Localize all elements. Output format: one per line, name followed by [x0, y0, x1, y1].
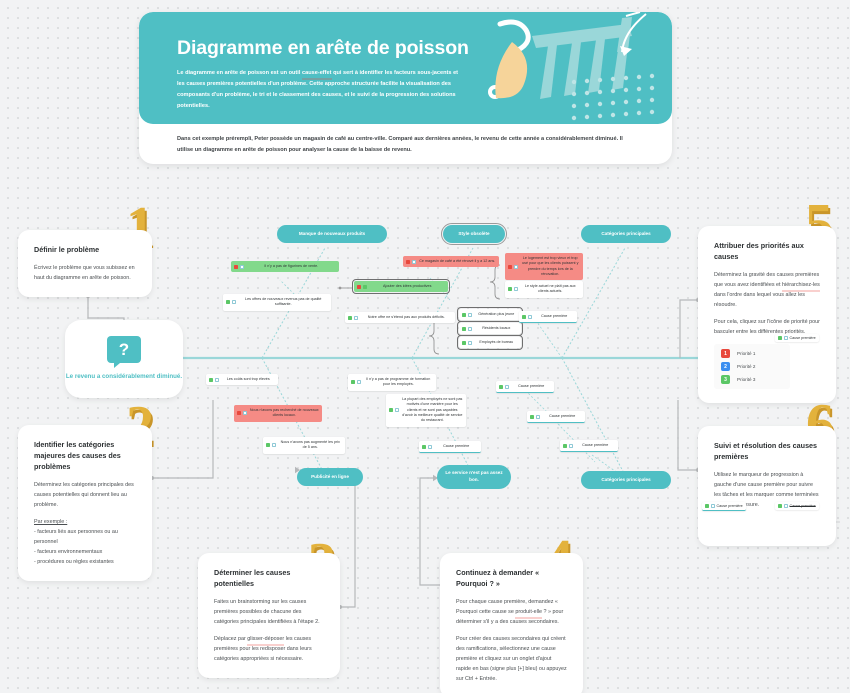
header-description-part1: Le diagramme en arête de poisson est un …	[177, 70, 302, 76]
cause-label-c11: Cause première	[534, 314, 575, 319]
category-node-categories-principales-bottom[interactable]: Catégories principales	[581, 471, 671, 489]
step-4-title: Continuez à demander « Pourquoi ? »	[456, 567, 567, 589]
cause-label-c2: Ajouter des idées productives	[369, 284, 446, 289]
cause-label-c13: Nous n'avons pas recherché de nouveaux c…	[249, 408, 320, 419]
priority-icon-c14[interactable]	[266, 443, 276, 447]
cause-node-c13[interactable]: Nous n'avons pas recherché de nouveaux c…	[234, 405, 322, 422]
step-2-title: Identifier les catégories majeures des c…	[34, 439, 136, 472]
priority-icon-c9[interactable]	[462, 327, 472, 331]
cause-label-c15: Il n'y a pas de programme de formation p…	[363, 377, 434, 388]
category-label-3: Catégories principales	[601, 231, 650, 238]
cause-node-c10[interactable]: Employés de bureau	[459, 337, 521, 348]
step-card-2: Identifier les catégories majeures des c…	[18, 425, 152, 581]
header-card: Diagramme en arête de poisson Le diagram…	[139, 12, 672, 164]
step-2-example-item-1: - facteurs liés aux personnes ou au pers…	[34, 529, 118, 545]
problem-node[interactable]: ? Le revenu a considérablement diminué.	[65, 320, 183, 398]
step-5-squiggle: hiérarchisez-les	[782, 280, 820, 290]
cause-node-c8[interactable]: Génération plus jeune	[459, 309, 521, 320]
step-4-paragraph-2: Pour créer des causes secondaires qui cr…	[456, 634, 567, 684]
priority-legend: 1 Priorité 1 2 Priorité 2 3 Priorité 3	[714, 344, 790, 389]
priority-square-icon	[778, 336, 788, 340]
step-4-paragraph-1: Pour chaque cause première, demandez « P…	[456, 597, 567, 627]
header-banner: Diagramme en arête de poisson Le diagram…	[139, 12, 672, 124]
cause-node-c15[interactable]: Il n'y a pas de programme de formation p…	[348, 374, 436, 391]
priority-row-3[interactable]: 3 Priorité 3	[721, 375, 783, 384]
step-6-legend-from-label: Cause première	[717, 504, 743, 508]
priority-icon-c16[interactable]	[389, 408, 399, 412]
header-subtitle: Dans cet exemple prérempli, Peter possèd…	[177, 134, 639, 156]
priority-2-label: Priorité 2	[737, 364, 755, 369]
cause-label-c10: Employés de bureau	[474, 340, 519, 345]
priority-icon-c4[interactable]	[406, 260, 416, 264]
priority-3-icon[interactable]: 3	[721, 375, 730, 384]
step-6-legend-from-node: Cause première	[702, 502, 746, 511]
category-label-2: Style obsolète	[458, 231, 489, 238]
priority-icon-c8[interactable]	[462, 313, 472, 317]
priority-icon-c1[interactable]	[234, 265, 244, 269]
cause-label-c17: Cause première	[434, 444, 479, 449]
category-label-6: Catégories principales	[601, 477, 650, 484]
priority-row-1[interactable]: 1 Priorité 1	[721, 349, 783, 358]
step-card-5: Attribuer des priorités aux causes Déter…	[698, 226, 836, 403]
step-2-example-item-3: - procédures ou règles existantes	[34, 559, 114, 565]
step-2-example: Par exemple : - facteurs liés aux person…	[34, 517, 136, 567]
fishbone-template-canvas: Diagramme en arête de poisson Le diagram…	[0, 0, 850, 693]
cause-label-c18: Cause première	[511, 384, 552, 389]
priority-2-icon[interactable]: 2	[721, 362, 730, 371]
priority-icon-c18[interactable]	[499, 385, 509, 389]
cause-label-c20: Cause première	[575, 443, 616, 448]
cause-node-c20[interactable]: Cause première	[560, 440, 618, 452]
step-5-paragraph-1: Déterminez la gravité des causes premièr…	[714, 270, 820, 310]
step-3-paragraph-2: Déplacez par glisser-déposer les causes …	[214, 634, 324, 664]
cause-node-c19[interactable]: Cause première	[527, 411, 585, 423]
step-2-example-head: Par exemple :	[34, 519, 67, 525]
category-node-style-obsolete[interactable]: Style obsolète	[443, 225, 505, 243]
problem-node-label: Le revenu a considérablement diminué.	[66, 372, 182, 382]
cause-node-c16[interactable]: La plupart des employés ne sont pas moti…	[386, 394, 466, 427]
priority-icon-c20[interactable]	[563, 444, 573, 448]
step-card-3: Déterminer les causes potentielles Faite…	[198, 553, 340, 678]
step-1-paragraph-1: Écrivez le problème que vous subissez en…	[34, 263, 136, 283]
step-6-title: Suivi et résolution des causes premières	[714, 440, 820, 462]
cause-label-c19: Cause première	[542, 414, 583, 419]
progress-marker-done-icon	[778, 504, 788, 508]
priority-icon-c10[interactable]	[462, 341, 472, 345]
step-3-paragraph-1: Faites un brainstorming sur les causes p…	[214, 597, 324, 627]
category-node-categories-principales-top[interactable]: Catégories principales	[581, 225, 671, 243]
priority-1-label: Priorité 1	[737, 351, 755, 356]
cause-node-c12[interactable]: Les coûts sont trop élevés	[206, 374, 278, 385]
cause-node-c1[interactable]: Il n'y a pas de figurines de vente.	[231, 261, 339, 272]
priority-icon-c2[interactable]	[357, 285, 367, 289]
category-node-manque-de-nouveaux-produits[interactable]: Manque de nouveaux produits	[277, 225, 387, 243]
step-3-title: Déterminer les causes potentielles	[214, 567, 324, 589]
priority-icon-c15[interactable]	[351, 380, 361, 384]
step-5-legend-target-label: Cause première	[790, 336, 816, 340]
header-description-squiggle: cause-effet	[302, 68, 332, 79]
step-6-legend-to-node: Cause première	[775, 502, 819, 510]
priority-3-label: Priorité 3	[737, 377, 755, 382]
progress-marker-icon	[705, 504, 715, 508]
step-3-squiggle: glisser-déposer	[247, 634, 284, 644]
priority-icon-c17[interactable]	[422, 445, 432, 449]
cause-node-c17[interactable]: Cause première	[419, 441, 481, 453]
step-5-legend-target-node: Cause première	[775, 334, 819, 342]
step-1-title: Définir le problème	[34, 244, 136, 255]
question-mark-badge-icon: ?	[107, 336, 141, 363]
cause-node-c14[interactable]: Nous n'avons pas augmenté les prix de 5 …	[263, 437, 345, 454]
cause-label-c16: La plupart des employés ne sont pas moti…	[401, 397, 464, 424]
step-card-6: Suivi et résolution des causes premières…	[698, 426, 836, 546]
cause-label-c5: Le logement est trop vieux et trop usé p…	[520, 256, 581, 277]
priority-icon-c12[interactable]	[209, 378, 219, 382]
step-2-example-item-2: - facteurs environnementaux	[34, 549, 102, 555]
priority-icon-c19[interactable]	[530, 415, 540, 419]
cause-label-c4: Ce magasin de café a été rénové il y a 1…	[418, 259, 497, 264]
cause-label-c8: Génération plus jeune	[474, 312, 519, 317]
step-5-title: Attribuer des priorités aux causes	[714, 240, 820, 262]
category-node-publicite-en-ligne[interactable]: Publicité en ligne	[297, 468, 363, 486]
cause-node-c5[interactable]: Le logement est trop vieux et trop usé p…	[505, 253, 583, 280]
cause-node-c2[interactable]: Ajouter des idées productives	[354, 281, 448, 292]
header-description: Le diagramme en arête de poisson est un …	[177, 68, 465, 112]
priority-icon-c11[interactable]	[522, 315, 532, 319]
cause-label-c6: Le style actuel ne plaît pas aux clients…	[520, 284, 581, 295]
priority-icon-c7[interactable]	[348, 316, 358, 320]
cause-label-c7: Notre offre ne s'étend pas aux produits …	[360, 315, 453, 320]
category-node-service-pas-assez-bon[interactable]: Le service n'est pas assez bon.	[437, 465, 511, 489]
priority-icon-c6[interactable]	[508, 287, 518, 291]
step-card-1: Définir le problème Écrivez le problème …	[18, 230, 152, 297]
fishbone-question-illustration	[470, 12, 670, 124]
step-4-squiggle: produit-elle	[515, 607, 542, 617]
cause-node-c9[interactable]: Résidents locaux	[459, 323, 521, 334]
cause-node-c18[interactable]: Cause première	[496, 381, 554, 393]
step-6-legend-to-label: Cause première	[790, 504, 816, 508]
cause-node-c6[interactable]: Le style actuel ne plaît pas aux clients…	[505, 281, 583, 298]
cause-label-c12: Les coûts sont trop élevés	[221, 377, 276, 382]
priority-icon-c3[interactable]	[226, 300, 236, 304]
priority-1-icon[interactable]: 1	[721, 349, 730, 358]
step-2-paragraph-1: Déterminez les catégories principales de…	[34, 480, 136, 510]
step-card-4: Continuez à demander « Pourquoi ? » Pour…	[440, 553, 583, 693]
cause-node-c3[interactable]: Les offres de nouveaux revenus pas de qu…	[223, 294, 331, 311]
cause-node-c11[interactable]: Cause première	[519, 311, 577, 323]
cause-node-c4[interactable]: Ce magasin de café a été rénové il y a 1…	[403, 256, 499, 267]
cause-label-c3: Les offres de nouveaux revenus pas de qu…	[238, 297, 329, 308]
cause-label-c14: Nous n'avons pas augmenté les prix de 5 …	[278, 440, 343, 451]
category-label-1: Manque de nouveaux produits	[299, 231, 365, 238]
priority-icon-c13[interactable]	[237, 411, 247, 415]
cause-label-c9: Résidents locaux	[474, 326, 519, 331]
cause-node-c7[interactable]: Notre offre ne s'étend pas aux produits …	[345, 312, 455, 323]
page-title: Diagramme en arête de poisson	[177, 37, 469, 60]
category-label-5: Le service n'est pas assez bon.	[444, 470, 504, 484]
priority-row-2[interactable]: 2 Priorité 2	[721, 362, 783, 371]
cause-label-c1: Il n'y a pas de figurines de vente.	[246, 264, 337, 269]
priority-icon-c5[interactable]	[508, 265, 518, 269]
category-label-4: Publicité en ligne	[311, 474, 349, 481]
